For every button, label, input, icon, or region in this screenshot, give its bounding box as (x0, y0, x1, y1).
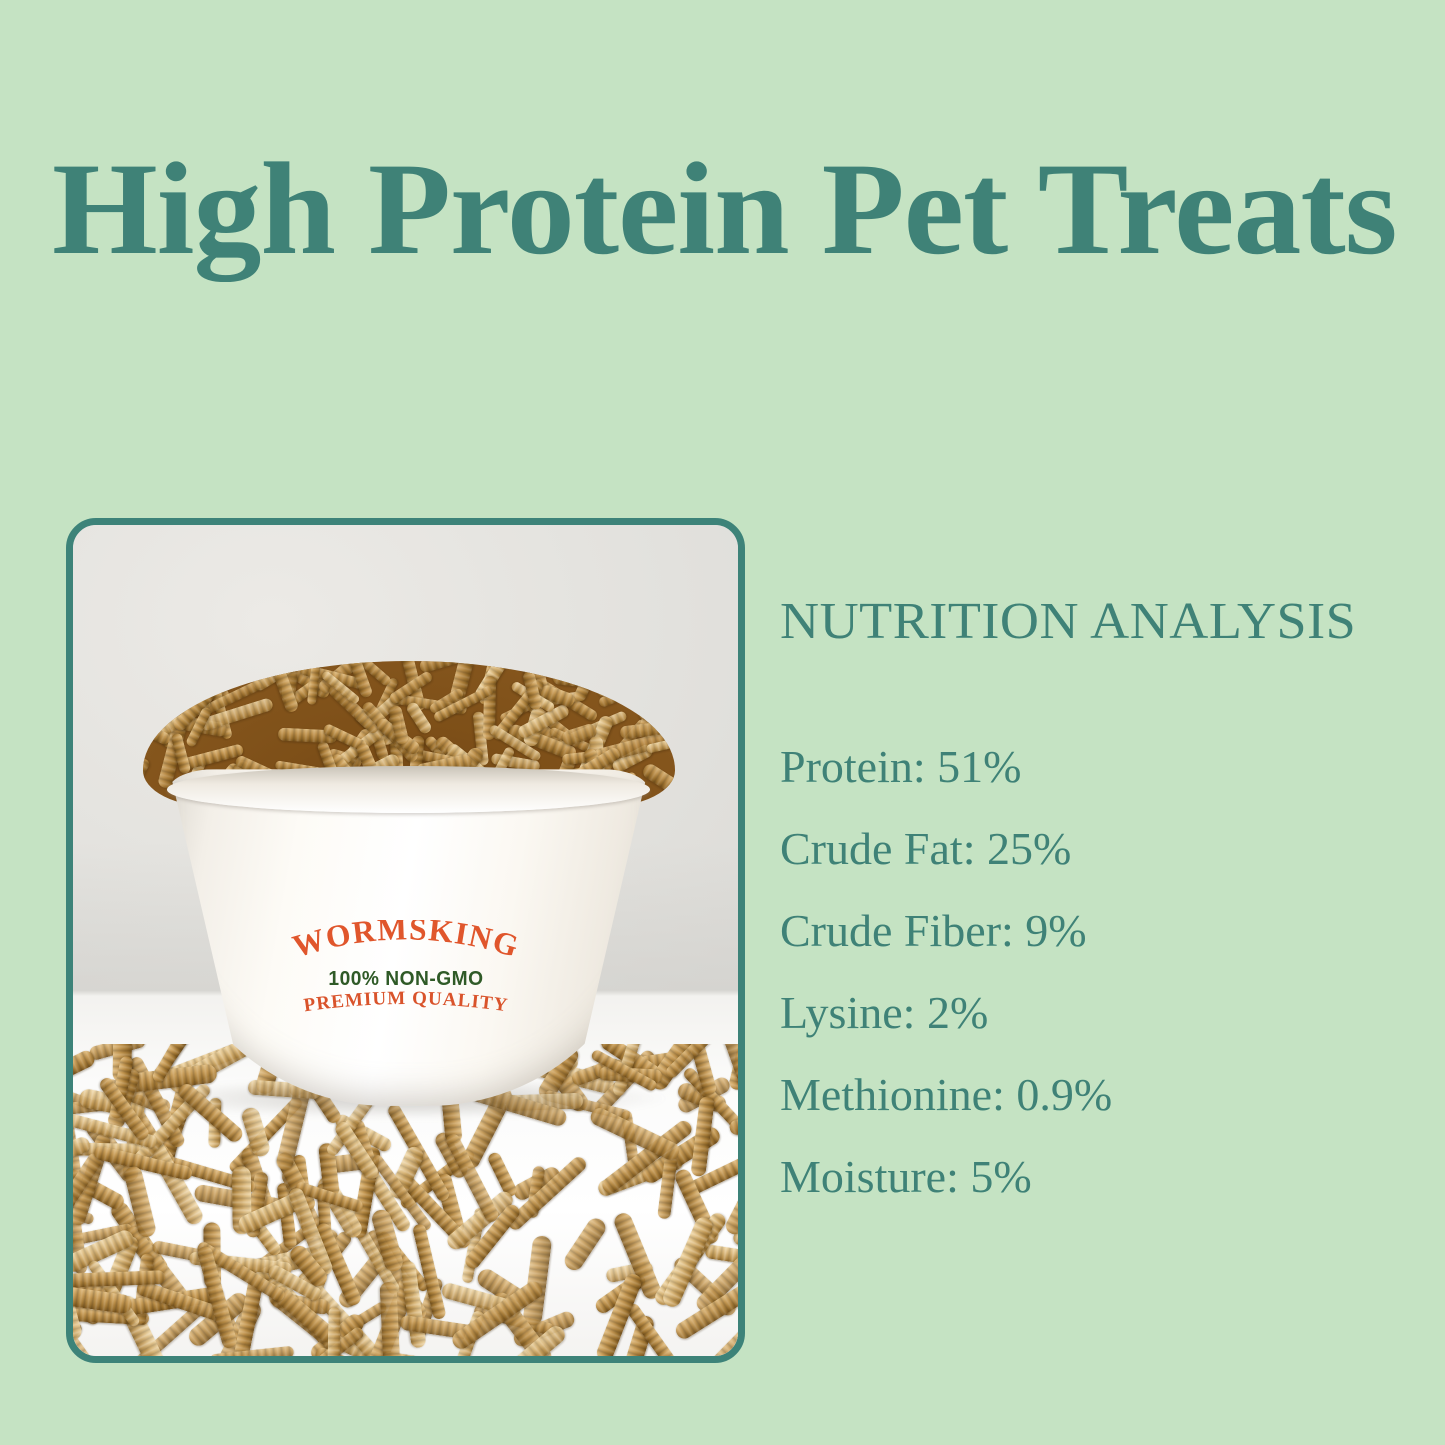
mealworm (723, 1177, 738, 1236)
bowl-rim (167, 766, 650, 813)
mealworm (327, 1308, 341, 1356)
nutrition-item: Crude Fiber: 9% (780, 890, 1420, 972)
nutrition-item: Crude Fat: 25% (780, 808, 1420, 890)
product-photo-frame: WORMSKING 100% NON-GMO PREMIUM QUALITY (66, 518, 745, 1363)
product-photo: WORMSKING 100% NON-GMO PREMIUM QUALITY (73, 525, 738, 1356)
nutrition-item: Protein: 51% (780, 726, 1420, 808)
mealworm (561, 1215, 608, 1273)
nutrition-heading: NUTRITION ANALYSIS (780, 596, 1445, 648)
nutrition-item: Moisture: 5% (780, 1136, 1420, 1218)
nutrition-item: Methionine: 0.9% (780, 1054, 1420, 1136)
nutrition-item: Lysine: 2% (780, 972, 1420, 1054)
mealworm (522, 1234, 552, 1326)
nutrition-panel: NUTRITION ANALYSIS Protein: 51%Crude Fat… (780, 596, 1420, 648)
nutrition-list: Protein: 51%Crude Fat: 25%Crude Fiber: 9… (780, 726, 1420, 1218)
page-title: High Protein Pet Treats (52, 142, 1443, 277)
infographic-page: High Protein Pet Treats WORMSKING (0, 0, 1445, 1445)
